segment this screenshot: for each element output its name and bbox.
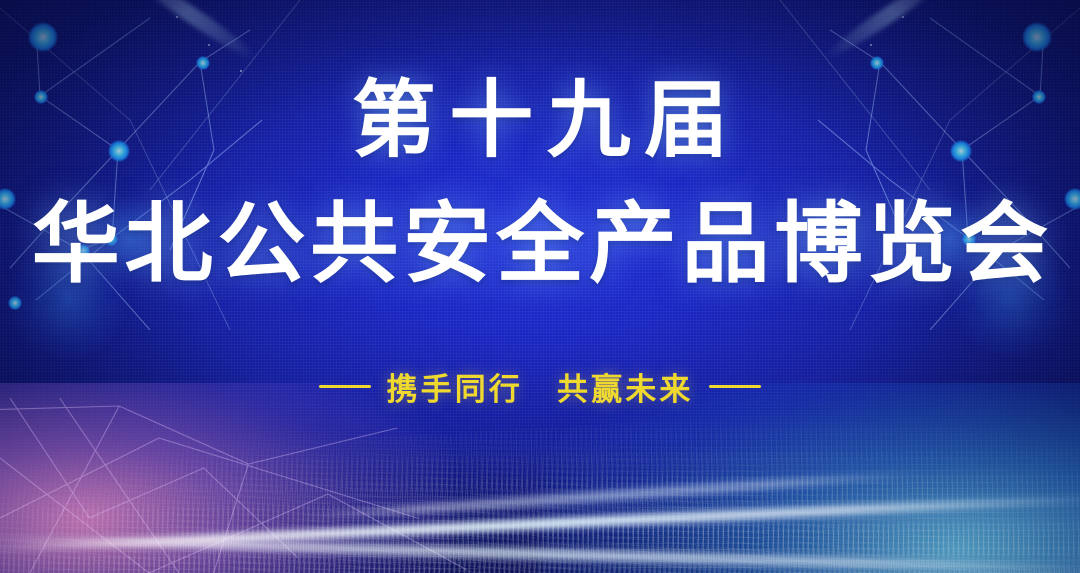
banner-text-block: 第十九届 华北公共安全产品博览会 携手同行 共赢未来 (0, 0, 1080, 573)
banner-title-line-2: 华北公共安全产品博览会 (27, 200, 1053, 288)
exhibition-banner: 第十九届 华北公共安全产品博览会 携手同行 共赢未来 (0, 0, 1080, 573)
subtitle-rule-right (709, 385, 761, 388)
subtitle-text: 携手同行 共赢未来 (387, 364, 694, 409)
subtitle-rule-left (319, 385, 371, 388)
banner-subtitle: 携手同行 共赢未来 (319, 364, 762, 409)
banner-title-line-1: 第十九届 (338, 78, 741, 162)
